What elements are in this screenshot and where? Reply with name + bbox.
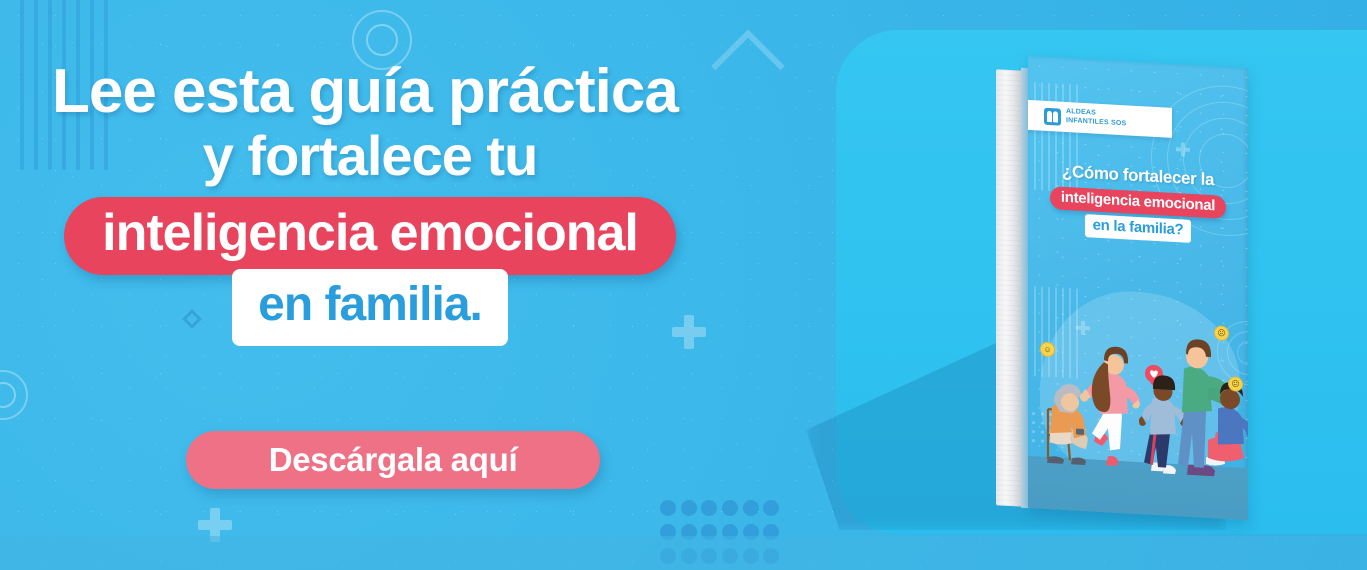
grid-dot [763,500,779,516]
concentric-circle-inner-icon [366,24,398,56]
logo-text-line2: INFANTILES SOS [1066,117,1126,127]
headline-pink-pill-row: inteligencia emocional [0,197,740,275]
headline-highlight-white: en familia. [232,269,508,346]
cover-illustration: ☺ [1028,284,1248,520]
bottom-band [0,536,1367,570]
figure-seated-teen [1204,378,1248,485]
grid-dot [660,500,676,516]
logo-text-line1: ALDEAS [1066,108,1096,117]
grid-dot [701,500,717,516]
headline-block: Lee esta guía práctica y fortalece tu in… [0,60,800,346]
book-front-cover: ☺ [1028,56,1248,520]
grid-dot [681,500,697,516]
grid-dot [743,500,759,516]
headline-white-pill-row: en familia. [0,269,740,346]
ebook-mockup[interactable]: ☺ [996,62,1248,514]
cover-plus-icon [1176,142,1190,157]
book-page-edges [996,69,1024,507]
sos-children-figures-icon [1044,107,1061,125]
cover-title-block: ¿Cómo fortalecer la inteligencia emocion… [1028,160,1248,246]
emoji-confused-icon: ☹ [1228,376,1243,392]
logo-text: ALDEAS INFANTILES SOS [1066,108,1126,128]
emoji-frustrated-icon: ☹ [1214,325,1229,341]
emoji-calm-icon: ☺ [1040,342,1055,358]
headline-line-1: Lee esta guía práctica [0,60,800,123]
grid-dot [722,500,738,516]
headline-line-2: y fortalece tu [0,127,740,184]
promo-banner: Lee esta guía práctica y fortalece tu in… [0,0,1367,570]
headline-highlight-pink: inteligencia emocional [64,197,676,275]
download-cta-button[interactable]: Descárgala aquí [186,431,600,489]
